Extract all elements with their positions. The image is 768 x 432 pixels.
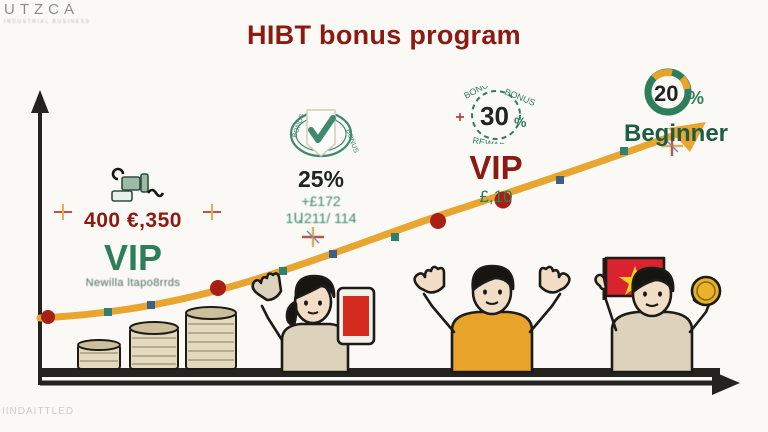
milestone-group-1: 400 €,350 VIP Newilla ltapo8rrds — [38, 163, 228, 289]
svg-text:30: 30 — [480, 101, 509, 131]
man-with-flag-illustration — [596, 258, 720, 372]
woman-with-phone-illustration — [253, 273, 374, 372]
infographic-canvas: UTZCA INDUSTRIAL BUSINESS IINDAITTLED HI… — [0, 0, 768, 432]
svg-text:%: % — [514, 114, 527, 130]
milestone-2-subtext-line1: +£172 — [236, 193, 406, 210]
milestone-group-2: BONUS BONUS 25% +£172 1Ա211/ 114 — [236, 104, 406, 227]
milestone-group-3: 30 % BONUS BONUS REWARD VIP £,10 — [406, 86, 586, 207]
man-arms-raised-illustration — [415, 266, 570, 372]
thirty-percent-seal-icon: 30 % BONUS BONUS REWARD — [406, 86, 586, 142]
svg-text:REWARD: REWARD — [472, 135, 513, 144]
milestone-1-tier: VIP — [38, 239, 228, 277]
money-transfer-icon — [38, 163, 228, 207]
milestone-group-4: 20 % Beginner — [586, 66, 766, 148]
milestone-2-subtext-line2: 1Ա211/ 114 — [236, 210, 406, 227]
milestone-4-tier: Beginner — [586, 120, 766, 148]
coin-stacks-illustration — [78, 307, 236, 369]
check-seal-icon: BONUS BONUS — [236, 104, 406, 162]
donut-progress-icon: 20 % — [586, 66, 766, 118]
svg-text:%: % — [688, 88, 704, 108]
milestone-1-subtext: Newilla ltapo8rrds — [38, 277, 228, 289]
svg-text:BONUS: BONUS — [344, 128, 359, 154]
milestone-3-subtext: £,10 — [406, 187, 586, 207]
svg-text:20: 20 — [654, 81, 678, 106]
milestone-1-value: 400 €,350 — [38, 209, 228, 233]
milestone-2-value: 25% — [236, 166, 406, 193]
milestone-3-tier: VIP — [406, 150, 586, 186]
